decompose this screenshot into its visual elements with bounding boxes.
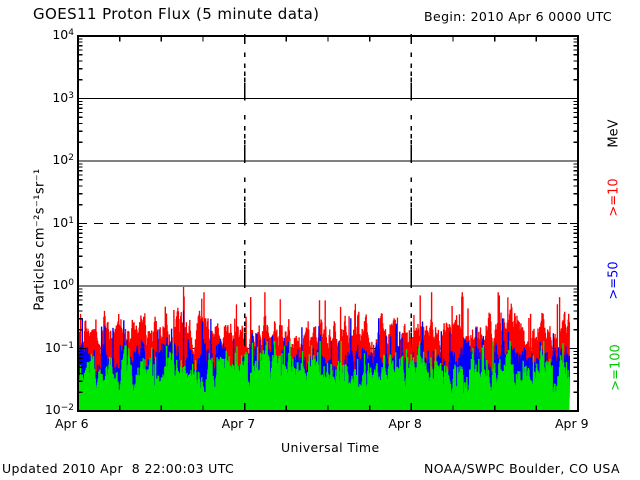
legend-p50-label: >=50 bbox=[607, 249, 622, 313]
y-tick-label: 10−2 bbox=[30, 402, 74, 417]
data-series-group bbox=[78, 287, 570, 411]
updated-timestamp: Updated 2010 Apr 8 22:00:03 UTC bbox=[2, 461, 234, 476]
y-tick-label: 102 bbox=[30, 152, 74, 167]
x-tick-label: Apr 8 bbox=[388, 416, 422, 431]
y-tick-label: 104 bbox=[30, 27, 74, 42]
legend-p100-label: >=100 bbox=[609, 332, 624, 404]
chart-page: GOES11 Proton Flux (5 minute data) Begin… bbox=[0, 0, 640, 480]
y-tick-label: 101 bbox=[30, 215, 74, 230]
legend-p10-label: >=10 bbox=[607, 166, 622, 230]
proton-flux-plot bbox=[0, 0, 640, 480]
y-tick-label: 10−1 bbox=[30, 340, 74, 355]
x-tick-label: Apr 7 bbox=[222, 416, 256, 431]
y-tick-label: 103 bbox=[30, 90, 74, 105]
y-tick-label: 100 bbox=[30, 277, 74, 292]
source-attribution: NOAA/SWPC Boulder, CO USA bbox=[424, 461, 620, 476]
gridlines-group bbox=[78, 99, 578, 349]
x-tick-label: Apr 6 bbox=[55, 416, 89, 431]
legend-units-label: MeV bbox=[607, 104, 622, 164]
x-tick-label: Apr 9 bbox=[555, 416, 589, 431]
